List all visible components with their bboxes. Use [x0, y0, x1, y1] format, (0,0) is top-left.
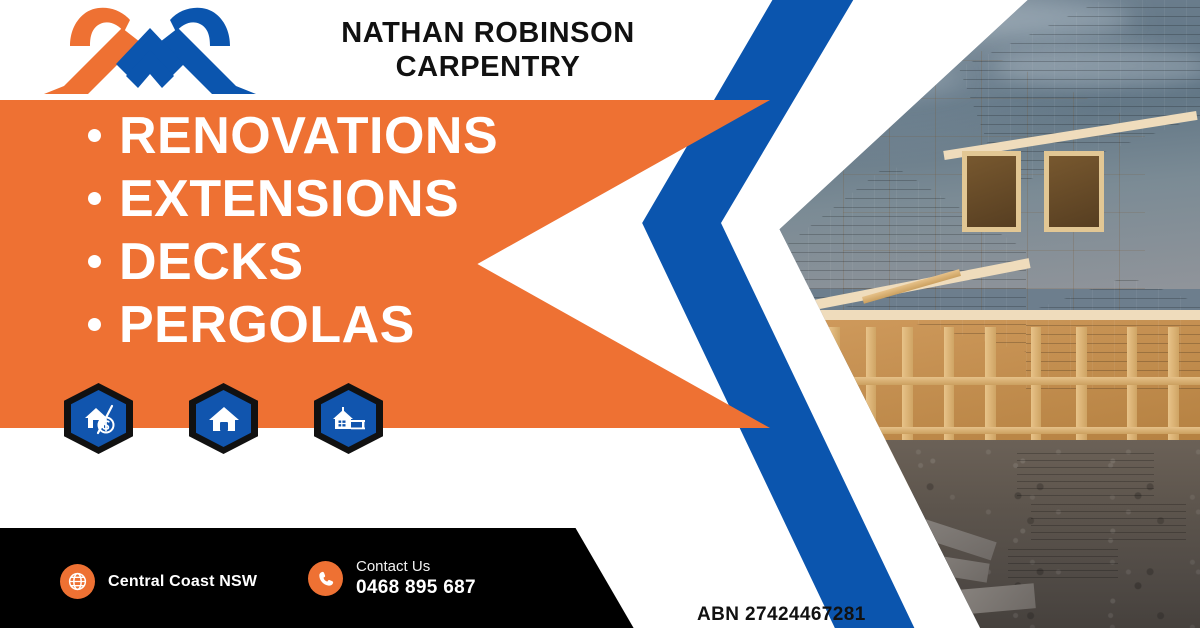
window-opening	[1044, 151, 1104, 233]
services-list: RENOVATIONS EXTENSIONS DECKS PERGOLAS	[88, 104, 648, 356]
phone-icon	[308, 561, 343, 596]
home-badge	[189, 383, 258, 454]
service-label: PERGOLAS	[119, 299, 415, 351]
bullet-icon	[88, 318, 101, 331]
service-item: RENOVATIONS	[88, 104, 648, 167]
service-label: DECKS	[119, 236, 304, 288]
bullet-icon	[88, 129, 101, 142]
contact-label: Contact Us	[356, 558, 476, 576]
crossed-hammers-logo-icon	[34, 2, 266, 98]
phone-number[interactable]: 0468 895 687	[356, 576, 476, 600]
window-opening	[962, 151, 1022, 233]
abn-text: ABN 27424467281	[697, 604, 866, 626]
bullet-icon	[88, 255, 101, 268]
house-price-badge	[64, 383, 133, 454]
location-label: Central Coast NSW	[108, 573, 257, 591]
header: NATHAN ROBINSON CARPENTRY	[0, 0, 780, 100]
contact-info[interactable]: Contact Us 0468 895 687	[308, 558, 476, 600]
house-extension-badge	[314, 383, 383, 454]
advertising-banner: NATHAN ROBINSON CARPENTRY RENOVATIONS EX…	[0, 0, 1200, 628]
house-dollar-no-fee-icon	[64, 383, 133, 454]
service-item: PERGOLAS	[88, 293, 648, 356]
service-label: RENOVATIONS	[119, 110, 498, 162]
house-extension-carport-icon	[314, 383, 383, 454]
brand-name-line2: CARPENTRY	[396, 50, 581, 84]
service-item: DECKS	[88, 230, 648, 293]
house-home-icon	[189, 383, 258, 454]
globe-icon	[60, 564, 95, 599]
bullet-icon	[88, 192, 101, 205]
location-info: Central Coast NSW	[60, 564, 257, 599]
service-label: EXTENSIONS	[119, 173, 459, 225]
brand-name: NATHAN ROBINSON CARPENTRY	[278, 2, 698, 98]
service-item: EXTENSIONS	[88, 167, 648, 230]
brand-name-line1: NATHAN ROBINSON	[341, 16, 635, 50]
trust-badges	[64, 383, 383, 454]
